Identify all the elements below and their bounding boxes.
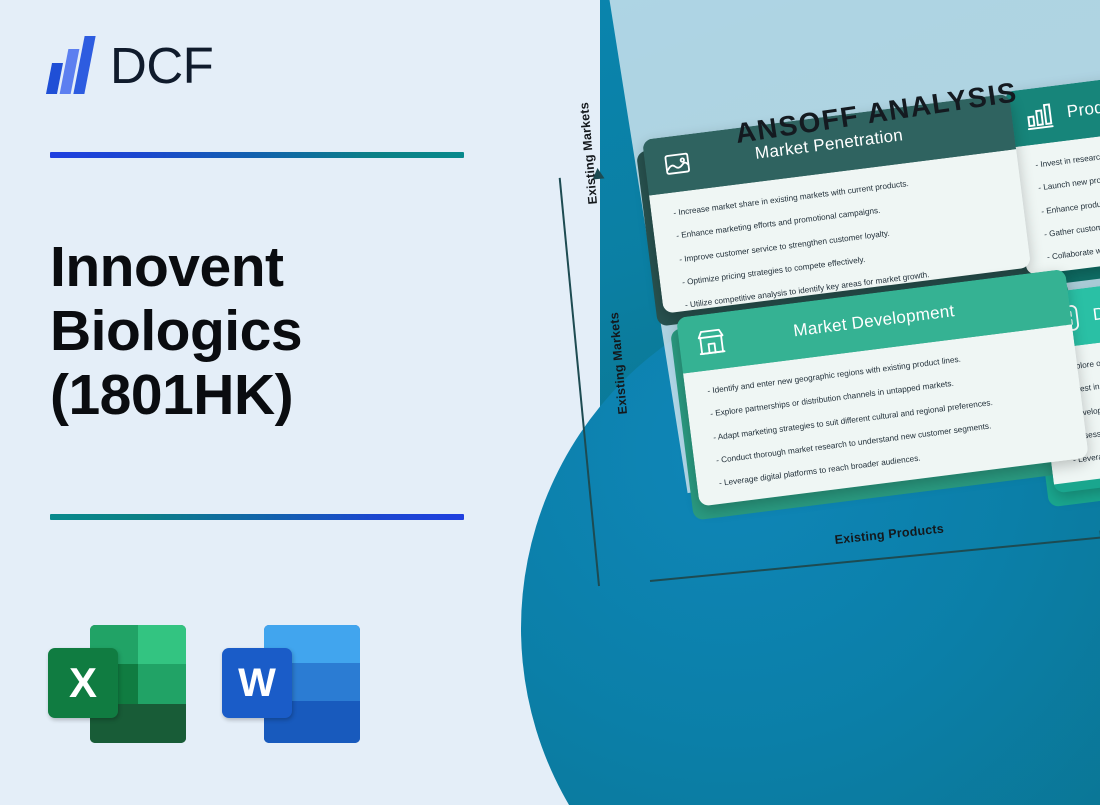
word-letter-badge: W xyxy=(222,648,292,718)
excel-file-icon[interactable]: X xyxy=(48,623,186,743)
card-title-product-development: Product Development xyxy=(1066,76,1100,122)
file-format-icons: X W xyxy=(48,623,360,743)
y-axis-upper-label: Existing Markets xyxy=(577,102,600,205)
divider-bottom xyxy=(50,514,464,520)
page-title-line-1: Innovent xyxy=(50,236,480,300)
storefront-icon xyxy=(693,324,729,360)
logo-wordmark: DCF xyxy=(110,40,213,91)
slide-canvas: Existing Markets Existing Markets Existi… xyxy=(0,0,1100,805)
word-file-icon[interactable]: W xyxy=(222,623,360,743)
excel-letter-badge: X xyxy=(48,648,118,718)
left-title-panel: DCF Innovent Biologics (1801HK) X W xyxy=(0,0,520,805)
image-frame-icon xyxy=(659,146,695,182)
page-title-line-3: (1801HK) xyxy=(50,364,480,428)
dcf-logo[interactable]: DCF xyxy=(48,36,213,94)
page-title-line-2: Biologics xyxy=(50,300,480,364)
page-title: Innovent Biologics (1801HK) xyxy=(50,236,480,427)
bar-chart-icon xyxy=(1021,98,1057,134)
bar-chart-logo-icon xyxy=(48,36,96,94)
divider-top xyxy=(50,152,464,158)
card-title-diversification: Diversification xyxy=(1092,282,1100,326)
